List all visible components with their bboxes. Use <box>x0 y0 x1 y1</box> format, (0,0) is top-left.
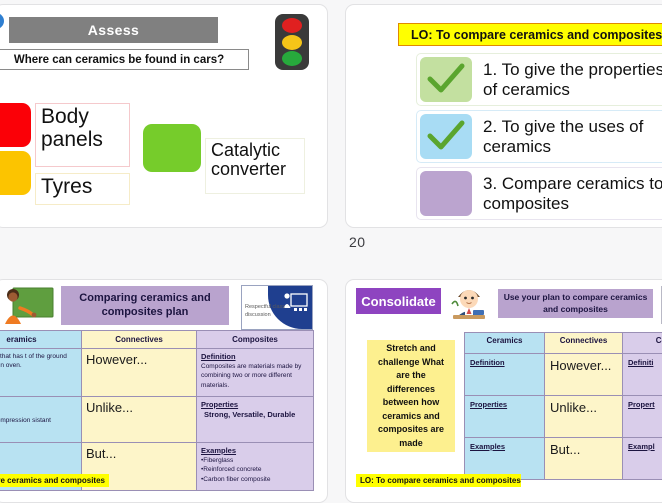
objective-row-2: 2. To give the uses of ceramics <box>416 110 662 163</box>
slide-card-objectives[interactable]: LO: To compare ceramics and composites 1… <box>345 4 662 228</box>
objective-row-3: 3. Compare ceramics to composites <box>416 167 662 220</box>
label-tyres: Tyres <box>35 173 130 205</box>
lo-banner: re ceramics and composites <box>0 474 109 487</box>
cell-connective-2: Unlike... <box>82 397 197 443</box>
teacher-illustration-icon <box>0 286 55 326</box>
lo-banner: LO: To compare ceramics and composites <box>356 474 521 487</box>
yellow-swatch <box>0 151 31 195</box>
table-row: ng under compression sistant Unlike... P… <box>0 397 314 443</box>
consolidate-chip: Consolidate <box>356 288 441 314</box>
slide-thumbnail-grid: Assess Where can ceramics be found in ca… <box>0 0 662 497</box>
table-row: of clay soil, that has t of the ground a… <box>0 349 314 397</box>
cell-composites-3: Examples Fiberglass Reinforced concrete … <box>197 443 314 491</box>
table-row: Properties Unlike... Propert <box>465 396 662 438</box>
composites-examples-list: Fiberglass Reinforced concrete Carbon fi… <box>201 456 309 484</box>
table-header-row: eramics Connectives Composites <box>0 331 314 349</box>
traffic-light-green-icon <box>282 51 302 66</box>
slide-logo-icon <box>0 13 4 29</box>
header-connectives: Connectives <box>82 331 197 349</box>
lo-banner: LO: To compare ceramics and composites <box>398 23 662 46</box>
cell-connective-1: However... <box>545 354 623 396</box>
traffic-light-amber-icon <box>282 35 302 50</box>
label-catalytic-converter: Catalytic converter <box>205 138 305 194</box>
table-row: Definition However... Definiti <box>465 354 662 396</box>
pupil-illustration-icon <box>449 284 489 321</box>
cell-ceramics-2: Properties <box>465 396 545 438</box>
cell-ceramics-2: ng under compression sistant <box>0 397 82 443</box>
header-ceramics: Ceramics <box>465 333 545 354</box>
cell-composites-2: Properties Strong, Versatile, Durable <box>197 397 314 443</box>
consolidate-table: Ceramics Connectives Con Definition Howe… <box>464 332 662 480</box>
objective-label-1: 1. To give the properties of ceramics <box>483 60 662 99</box>
cell-composites-2: Propert <box>623 396 662 438</box>
check-icon <box>426 62 466 96</box>
table-header-row: Ceramics Connectives Con <box>465 333 662 354</box>
objective-label-2: 2. To give the uses of ceramics <box>483 117 662 156</box>
objective-tile-2 <box>420 114 472 159</box>
check-icon <box>426 119 466 153</box>
objective-row-1: 1. To give the properties of ceramics <box>416 53 662 106</box>
slide-number: 20 <box>349 234 366 250</box>
header-composites: Composites <box>197 331 314 349</box>
objective-label-3: 3. Compare ceramics to composites <box>483 174 662 213</box>
cell-connective-1: However... <box>82 349 197 397</box>
plan-table: eramics Connectives Composites of clay s… <box>0 330 314 491</box>
slide-card-plan[interactable]: Comparing ceramics and composites plan R… <box>0 279 328 503</box>
traffic-light-red-icon <box>282 18 302 33</box>
cell-composites-1: Definition Composites are materials made… <box>197 349 314 397</box>
slide-card-consolidate[interactable]: Consolidate Use your plan to compare cer… <box>345 279 662 503</box>
cell-composites-3: Exampl <box>623 438 662 480</box>
respectful-discussion-text: Respectful class discussion <box>245 303 289 320</box>
assess-header: Assess <box>9 17 218 43</box>
plan-title: Comparing ceramics and composites plan <box>61 286 229 325</box>
stretch-and-challenge-box: Stretch and challenge What are the diffe… <box>367 340 455 452</box>
cell-composites-1: Definiti <box>623 354 662 396</box>
cell-connective-3: But... <box>545 438 623 480</box>
green-swatch <box>143 124 201 172</box>
cell-ceramics-1: Definition <box>465 354 545 396</box>
cell-ceramics-1: of clay soil, that has t of the ground a… <box>0 349 82 397</box>
header-ceramics: eramics <box>0 331 82 349</box>
objective-tile-3 <box>420 171 472 216</box>
assess-question: Where can ceramics be found in cars? <box>0 49 249 70</box>
traffic-light-icon <box>275 14 309 70</box>
objective-tile-1 <box>420 57 472 102</box>
label-body-panels: Body panels <box>35 103 130 167</box>
header-connectives: Connectives <box>545 333 623 354</box>
cell-connective-2: Unlike... <box>545 396 623 438</box>
slide-card-assess[interactable]: Assess Where can ceramics be found in ca… <box>0 4 328 228</box>
task-instruction: Use your plan to compare ceramics and co… <box>498 289 653 318</box>
header-composites: Con <box>623 333 662 354</box>
respectful-discussion-badge: Respectful class discussion <box>241 285 313 330</box>
red-swatch <box>0 103 31 147</box>
